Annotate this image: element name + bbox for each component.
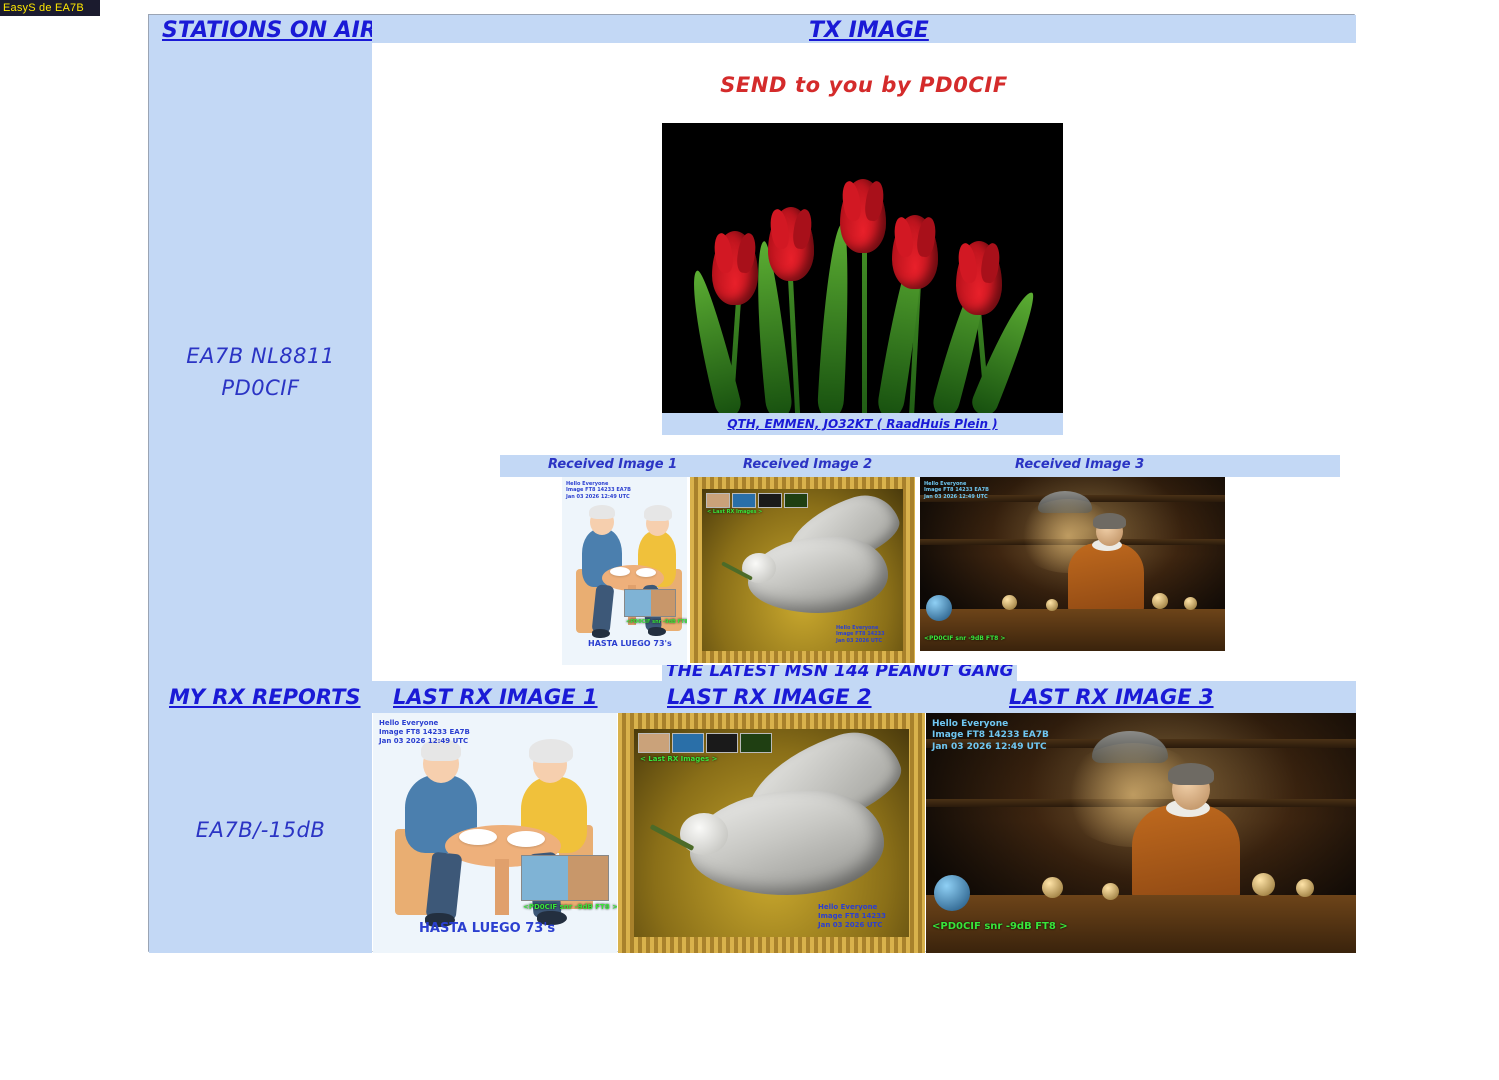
last-rx-image-2[interactable]: < Last RX Images > Hello EveryoneImage F… — [618, 713, 925, 953]
station-list-item[interactable]: PD0CIF — [149, 372, 372, 404]
last-rx-image-1-label: LAST RX IMAGE 1 — [393, 685, 598, 709]
rx-report-item[interactable]: EA7B/-15dB — [149, 818, 372, 842]
thumb3-overlay-bottom: <PD0CIF snr -9dB FT8 > — [924, 635, 1005, 643]
rx1-overlay-top: Hello EveryoneImage FT8 14233 EA7BJan 03… — [379, 719, 470, 745]
rx1-pip-caption: <PD0CIF snr -9dB FT8 > — [523, 903, 617, 912]
rx3-overlay-top: Hello EveryoneImage FT8 14233 EA7BJan 03… — [932, 719, 1049, 753]
last-rx-image-3-label: LAST RX IMAGE 3 — [1009, 685, 1214, 709]
clipped-marquee-text: THE LATEST MSN 144 PEANUT GANG — [662, 665, 1017, 681]
thumb2-mini-strip — [706, 493, 808, 508]
received-image-1-label: Received Image 1 — [548, 457, 677, 472]
rx1-pip-overlay — [521, 855, 609, 901]
thumb3-overlay-top: Hello EveryoneImage FT8 14233 EA7BJan 03… — [924, 481, 989, 500]
my-rx-reports-label: MY RX REPORTS — [169, 685, 361, 709]
rx1-overlay-bottom: HASTA LUEGO 73's — [419, 921, 555, 937]
thumb1-overlay-top: Hello EveryoneImage FT8 14233 EA7BJan 03… — [566, 481, 631, 500]
thumb2-corner-overlay: Hello EveryoneImage FT8 14233Jan 03 2026… — [836, 625, 885, 644]
stations-on-air-header: STATIONS ON AIR — [149, 15, 372, 43]
tx-image-caption-text: QTH, EMMEN, JO32KT ( RaadHuis Plein ) — [727, 417, 997, 431]
received-image-1-thumb[interactable]: Hello EveryoneImage FT8 14233 EA7BJan 03… — [562, 477, 687, 665]
thumb1-overlay-bottom: HASTA LUEGO 73's — [588, 639, 672, 649]
received-images-strip: Hello EveryoneImage FT8 14233 EA7BJan 03… — [500, 477, 1340, 671]
rx2-corner-overlay: Hello EveryoneImage FT8 14233Jan 03 2026… — [818, 903, 886, 929]
rx-row-body: EA7B/-15dB Hello EveryoneImage FT8 14233… — [149, 713, 1356, 953]
last-rx-image-2-label: LAST RX IMAGE 2 — [667, 685, 872, 709]
rx2-thumbs-caption: < Last RX Images > — [640, 755, 718, 764]
window-titlebar: EasyS de EA7B — [0, 0, 100, 16]
thumb1-pip-caption: <PD0CIF snr -9dB FT8 > — [626, 619, 687, 625]
received-image-2-label: Received Image 2 — [743, 457, 872, 472]
received-image-2-thumb[interactable]: < Last RX Images > Hello EveryoneImage F… — [690, 477, 915, 663]
last-rx-image-1[interactable]: Hello EveryoneImage FT8 14233 EA7BJan 03… — [373, 713, 617, 953]
easys-main-window: STATIONS ON AIR TX IMAGE EA7B NL8811 PD0… — [148, 14, 1355, 952]
stations-on-air-panel[interactable]: EA7B NL8811 PD0CIF — [149, 43, 372, 681]
stations-on-air-label: STATIONS ON AIR — [162, 18, 377, 43]
thumb2-thumbs-caption: < Last RX Images > — [707, 509, 762, 515]
rx-row-header-band: MY RX REPORTS LAST RX IMAGE 1 LAST RX IM… — [149, 681, 1356, 713]
rx3-overlay-bottom: <PD0CIF snr -9dB FT8 > — [932, 921, 1068, 934]
tx-image-header: TX IMAGE — [372, 15, 1356, 43]
tx-image-photo[interactable] — [662, 123, 1063, 419]
thumb1-pip-overlay — [624, 589, 676, 617]
received-image-3-thumb[interactable]: Hello EveryoneImage FT8 14233 EA7BJan 03… — [920, 477, 1225, 651]
window-title: EasyS de EA7B — [3, 2, 84, 14]
stations-list[interactable]: EA7B NL8811 PD0CIF — [149, 340, 372, 404]
station-list-item[interactable]: EA7B NL8811 — [149, 340, 372, 372]
tx-image-caption: QTH, EMMEN, JO32KT ( RaadHuis Plein ) — [662, 413, 1063, 435]
my-rx-reports-panel[interactable]: EA7B/-15dB — [149, 713, 372, 953]
tx-image-panel: SEND to you by PD0CIF QTH, EMMEN, JO32K — [372, 43, 1356, 681]
last-rx-image-3[interactable]: Hello EveryoneImage FT8 14233 EA7BJan 03… — [926, 713, 1356, 953]
rx2-mini-strip — [638, 733, 772, 753]
received-images-header: Received Image 1 Received Image 2 Receiv… — [500, 455, 1340, 477]
tx-image-label: TX IMAGE — [809, 18, 929, 43]
received-image-3-label: Received Image 3 — [1015, 457, 1144, 472]
clipped-marquee: THE LATEST MSN 144 PEANUT GANG — [372, 665, 1356, 681]
send-by-label: SEND to you by PD0CIF — [372, 73, 1356, 97]
